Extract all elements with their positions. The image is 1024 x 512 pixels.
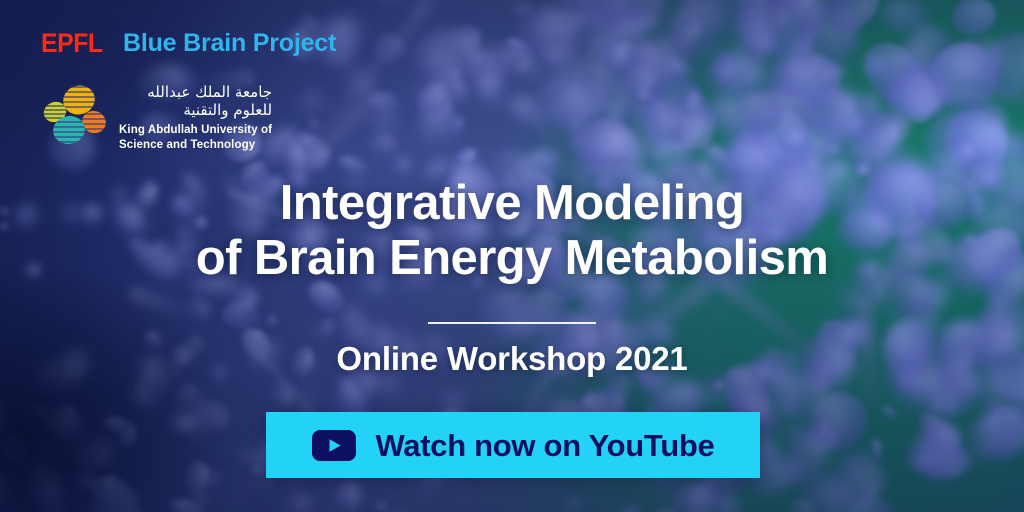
kaust-wordmark: جامعة الملك عبدالله للعلوم والتقنية King… xyxy=(119,82,272,152)
cta-label: Watch now on YouTube xyxy=(376,430,715,461)
youtube-play-icon xyxy=(312,430,356,461)
kaust-logo-icon xyxy=(41,82,109,148)
page-title: Integrative Modeling of Brain Energy Met… xyxy=(0,176,1024,286)
event-subtitle: Online Workshop 2021 xyxy=(0,340,1024,378)
title-divider xyxy=(428,322,596,324)
event-promo-banner: EPFL Blue Brain Project xyxy=(0,0,1024,512)
title-line-2: of Brain Energy Metabolism xyxy=(0,231,1024,286)
blue-brain-project-wordmark: Blue Brain Project xyxy=(123,31,336,56)
title-line-1: Integrative Modeling xyxy=(0,176,1024,231)
kaust-lockup: جامعة الملك عبدالله للعلوم والتقنية King… xyxy=(41,82,272,152)
kaust-english-line-2: Science and Technology xyxy=(119,138,272,152)
watch-on-youtube-button[interactable]: Watch now on YouTube xyxy=(266,412,760,478)
epfl-logo: EPFL xyxy=(41,30,103,57)
kaust-arabic-line-2: للعلوم والتقنية xyxy=(119,102,272,120)
brand-lockup: EPFL Blue Brain Project xyxy=(41,30,336,57)
kaust-english-line-1: King Abdullah University of xyxy=(119,123,272,137)
kaust-arabic-line-1: جامعة الملك عبدالله xyxy=(119,84,272,102)
